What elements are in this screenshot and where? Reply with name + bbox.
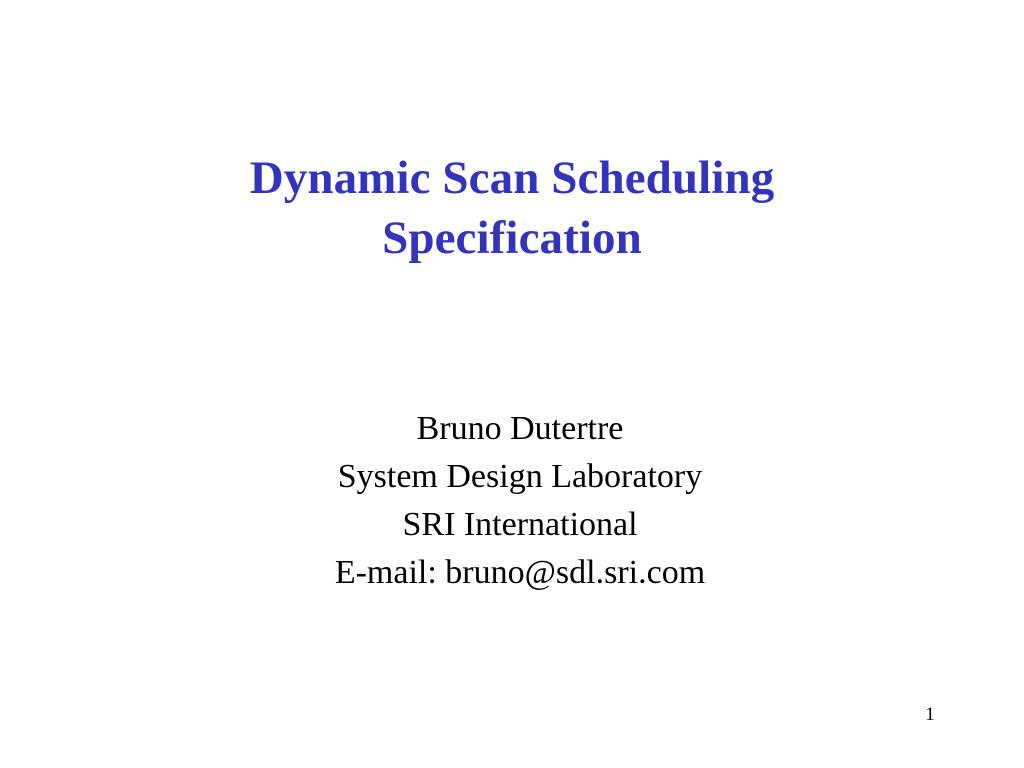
slide-canvas: Dynamic Scan Scheduling Specification Br…: [0, 0, 1024, 768]
page-number: 1: [880, 704, 980, 726]
author-department: System Design Laboratory: [120, 453, 920, 501]
slide-title-line-1: Dynamic Scan Scheduling: [112, 148, 912, 208]
author-email: E-mail: bruno@sdl.sri.com: [120, 549, 920, 597]
author-organization: SRI International: [120, 501, 920, 549]
slide-title: Dynamic Scan Scheduling Specification: [112, 148, 912, 268]
author-name: Bruno Dutertre: [120, 405, 920, 453]
slide-title-line-2: Specification: [112, 208, 912, 268]
slide-author-block: Bruno Dutertre System Design Laboratory …: [120, 405, 920, 597]
